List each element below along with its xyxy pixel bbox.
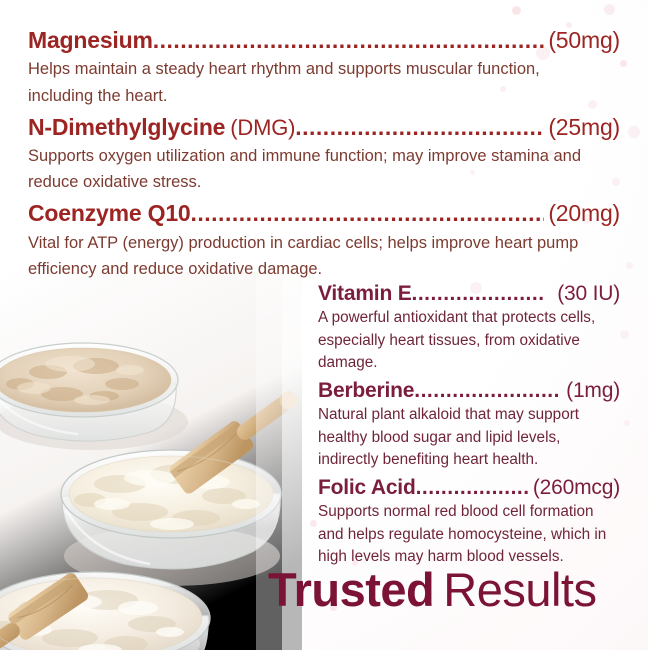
dot-leader: .....................: [412, 281, 557, 307]
dot-leader: ........................................…: [191, 199, 545, 228]
nutrient-amount: (25mg): [545, 113, 620, 142]
nutrient-name: Berberine: [318, 378, 414, 404]
nutrient-amount: (1mg): [566, 378, 620, 404]
nutrient-amount: (20mg): [545, 199, 620, 228]
nutrient-entry-dmg: N-Dimethylglycine (DMG) ................…: [28, 113, 620, 196]
nutrient-description: A powerful antioxidant that protects cel…: [318, 307, 608, 374]
nutrient-heading: Berberine ....................... (1mg): [318, 378, 620, 404]
tagline-light-word: Results: [443, 563, 596, 616]
supplement-ingredient-poster: Magnesium ..............................…: [0, 0, 648, 650]
nutrient-amount: (30 IU): [557, 281, 620, 307]
nutrient-name: Magnesium: [28, 26, 153, 55]
tagline-bold-word: Trusted: [268, 563, 434, 616]
nutrient-entry-berberine: Berberine ....................... (1mg) …: [318, 378, 620, 472]
dot-leader: .......................: [414, 378, 565, 404]
nutrient-heading: Coenzyme Q10 ...........................…: [28, 199, 620, 228]
nutrient-entry-vitamin-e: Vitamin E ..................... (30 IU) …: [318, 281, 620, 375]
nutrient-name: Coenzyme Q10: [28, 199, 191, 228]
nutrient-heading: Magnesium ..............................…: [28, 26, 620, 55]
top-nutrient-list: Magnesium ..............................…: [28, 26, 620, 286]
dot-leader: ........................................…: [295, 113, 544, 142]
right-nutrient-list: Vitamin E ..................... (30 IU) …: [318, 281, 620, 572]
nutrient-name: N-Dimethylglycine: [28, 113, 225, 142]
nutrient-abbreviation: (DMG): [230, 114, 295, 142]
nutrient-heading: N-Dimethylglycine (DMG) ................…: [28, 113, 620, 142]
dot-leader: ..................: [416, 475, 532, 501]
tagline-trusted-results: TrustedResults: [268, 566, 597, 613]
nutrient-amount: (50mg): [545, 26, 620, 55]
nutrient-description: Helps maintain a steady heart rhythm and…: [28, 56, 603, 108]
protein-powder-bowls-photo: [0, 272, 302, 650]
nutrient-entry-folic-acid: Folic Acid .................. (260mcg) S…: [318, 475, 620, 569]
nutrient-name: Vitamin E: [318, 281, 412, 307]
nutrient-description: Supports oxygen utilization and immune f…: [28, 143, 603, 195]
nutrient-amount: (260mcg): [533, 475, 620, 501]
nutrient-description: Natural plant alkaloid that may support …: [318, 404, 608, 471]
nutrient-heading: Folic Acid .................. (260mcg): [318, 475, 620, 501]
nutrient-entry-magnesium: Magnesium ..............................…: [28, 26, 620, 109]
nutrient-description: Vital for ATP (energy) production in car…: [28, 230, 603, 282]
nutrient-name: Folic Acid: [318, 475, 416, 501]
nutrient-heading: Vitamin E ..................... (30 IU): [318, 281, 620, 307]
nutrient-description: Supports normal red blood cell formation…: [318, 501, 608, 568]
nutrient-entry-coq10: Coenzyme Q10 ...........................…: [28, 199, 620, 282]
dot-leader: ........................................…: [153, 26, 545, 55]
